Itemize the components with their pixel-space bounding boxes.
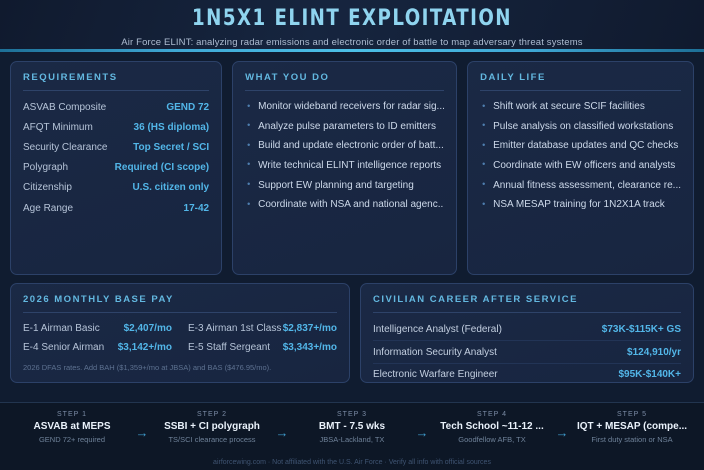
base-pay-title: 2026 MONTHLY BASE PAY — [23, 294, 337, 313]
daily-life-title: DAILY LIFE — [480, 72, 681, 91]
requirement-row: ASVAB Composite GEND 72 — [23, 97, 209, 117]
list-item: Write technical ELINT intelligence repor… — [245, 156, 444, 176]
pay-value: $3,343+/mo — [283, 342, 337, 353]
arrow-right-icon: → — [411, 411, 433, 440]
requirement-label: Security Clearance — [23, 142, 107, 153]
requirement-row: AFQT Minimum 36 (HS diploma) — [23, 117, 209, 137]
career-value: $73K-$115K+ GS — [602, 324, 681, 335]
timeline-step-5: STEP 5 IQT + MESAP (compe... First duty … — [573, 411, 691, 444]
timeline-step-2: STEP 2 SSBI + CI polygraph TS/SCI cleara… — [153, 411, 271, 444]
step-subtitle: TS/SCI clearance process — [153, 435, 271, 444]
pay-row: E-4 Senior Airman $3,142+/mo — [23, 338, 172, 357]
table-row: Electronic Warfare Engineer $95K-$140K+ — [373, 364, 681, 383]
step-title: Tech School ~11-12 ... — [433, 421, 551, 432]
page-title: 1N5X1 ELINT EXPLOITATION — [28, 6, 676, 32]
table-row: Intelligence Analyst (Federal) $73K-$115… — [373, 319, 681, 341]
timeline-step-4: STEP 4 Tech School ~11-12 ... Goodfellow… — [433, 411, 551, 444]
requirement-value: Required (CI scope) — [115, 162, 209, 173]
base-pay-grid: E-1 Airman Basic $2,407/mo E-3 Airman 1s… — [23, 319, 337, 357]
list-item: Coordinate with EW officers and analysts — [480, 156, 681, 176]
list-item: Pulse analysis on classified workstation… — [480, 117, 681, 137]
requirement-value: GEND 72 — [166, 102, 209, 113]
top-panel-row: REQUIREMENTS ASVAB Composite GEND 72 AFQ… — [0, 52, 704, 275]
requirement-label: ASVAB Composite — [23, 102, 106, 113]
what-you-do-panel: WHAT YOU DO Monitor wideband receivers f… — [232, 61, 457, 275]
step-number: STEP 2 — [153, 411, 271, 418]
timeline-step-3: STEP 3 BMT - 7.5 wks JBSA-Lackland, TX — [293, 411, 411, 444]
step-number: STEP 4 — [433, 411, 551, 418]
step-number: STEP 1 — [13, 411, 131, 418]
step-title: BMT - 7.5 wks — [293, 421, 411, 432]
pay-row: E-3 Airman 1st Class $2,837+/mo — [188, 319, 337, 338]
timeline-step-1: STEP 1 ASVAB at MEPS GEND 72+ required — [13, 411, 131, 444]
requirements-panel: REQUIREMENTS ASVAB Composite GEND 72 AFQ… — [10, 61, 222, 275]
step-title: SSBI + CI polygraph — [153, 421, 271, 432]
list-item: Support EW planning and targeting — [245, 175, 444, 195]
requirements-list: ASVAB Composite GEND 72 AFQT Minimum 36 … — [23, 97, 209, 218]
pay-row: E-5 Staff Sergeant $3,343+/mo — [188, 338, 337, 357]
requirement-row: Citizenship U.S. citizen only — [23, 178, 209, 198]
pay-value: $3,142+/mo — [118, 342, 172, 353]
requirement-value: U.S. citizen only — [132, 182, 209, 193]
arrow-right-icon: → — [551, 411, 573, 440]
requirement-label: Citizenship — [23, 182, 72, 193]
requirement-label: Polygraph — [23, 162, 68, 173]
list-item: Emitter database updates and QC checks — [480, 136, 681, 156]
requirement-row: Polygraph Required (CI scope) — [23, 158, 209, 178]
list-item: Annual fitness assessment, clearance re.… — [480, 175, 681, 195]
arrow-right-icon: → — [271, 411, 293, 440]
requirement-value: 17-42 — [184, 203, 210, 214]
list-item: NSA MESAP training for 1N2X1A track — [480, 195, 681, 215]
daily-life-panel: DAILY LIFE Shift work at secure SCIF fac… — [467, 61, 694, 275]
pay-label: E-4 Senior Airman — [23, 342, 104, 353]
pay-value: $2,837+/mo — [283, 323, 337, 334]
requirement-label: AFQT Minimum — [23, 122, 93, 133]
base-pay-panel: 2026 MONTHLY BASE PAY E-1 Airman Basic $… — [10, 283, 350, 383]
career-label: Information Security Analyst — [373, 347, 497, 358]
career-label: Intelligence Analyst (Federal) — [373, 324, 502, 335]
requirements-title: REQUIREMENTS — [23, 72, 209, 91]
pay-row: E-1 Airman Basic $2,407/mo — [23, 319, 172, 338]
pay-label: E-3 Airman 1st Class — [188, 323, 281, 334]
requirement-label: Age Range — [23, 203, 73, 214]
requirement-row: Security Clearance Top Secret / SCI — [23, 137, 209, 157]
list-item: Coordinate with NSA and national agenc..… — [245, 195, 444, 215]
step-number: STEP 3 — [293, 411, 411, 418]
requirement-value: Top Secret / SCI — [133, 142, 209, 153]
what-you-do-list: Monitor wideband receivers for radar sig… — [245, 97, 444, 215]
step-subtitle: GEND 72+ required — [13, 435, 131, 444]
step-title: ASVAB at MEPS — [13, 421, 131, 432]
career-label: Electronic Warfare Engineer — [373, 369, 498, 380]
step-subtitle: JBSA-Lackland, TX — [293, 435, 411, 444]
list-item: Monitor wideband receivers for radar sig… — [245, 97, 444, 117]
step-subtitle: Goodfellow AFB, TX — [433, 435, 551, 444]
header-accent-bar — [0, 49, 704, 52]
table-row: Information Security Analyst $124,910/yr — [373, 341, 681, 363]
step-number: STEP 5 — [573, 411, 691, 418]
list-item: Analyze pulse parameters to ID emitters — [245, 117, 444, 137]
daily-life-list: Shift work at secure SCIF facilities Pul… — [480, 97, 681, 215]
what-you-do-title: WHAT YOU DO — [245, 72, 444, 91]
footer-disclaimer: airforcewing.com · Not affiliated with t… — [0, 459, 704, 466]
list-item: Build and update electronic order of bat… — [245, 136, 444, 156]
pay-label: E-5 Staff Sergeant — [188, 342, 270, 353]
career-value: $124,910/yr — [627, 347, 681, 358]
arrow-right-icon: → — [131, 411, 153, 440]
timeline-steps: STEP 1 ASVAB at MEPS GEND 72+ required →… — [0, 403, 704, 444]
requirement-value: 36 (HS diploma) — [134, 122, 210, 133]
requirement-row: Age Range 17-42 — [23, 198, 209, 218]
civilian-career-panel: CIVILIAN CAREER AFTER SERVICE Intelligen… — [360, 283, 694, 383]
civilian-career-list: Intelligence Analyst (Federal) $73K-$115… — [373, 319, 681, 383]
page-subtitle: Air Force ELINT: analyzing radar emissio… — [0, 37, 704, 48]
page-header: 1N5X1 ELINT EXPLOITATION Air Force ELINT… — [0, 0, 704, 52]
base-pay-note: 2026 DFAS rates. Add BAH ($1,359+/mo at … — [23, 363, 337, 372]
list-item: Shift work at secure SCIF facilities — [480, 97, 681, 117]
pay-label: E-1 Airman Basic — [23, 323, 100, 334]
bottom-panel-row: 2026 MONTHLY BASE PAY E-1 Airman Basic $… — [0, 275, 704, 383]
career-value: $95K-$140K+ — [618, 369, 681, 380]
civilian-career-title: CIVILIAN CAREER AFTER SERVICE — [373, 294, 681, 313]
pay-value: $2,407/mo — [124, 323, 172, 334]
step-title: IQT + MESAP (compe... — [573, 421, 691, 432]
step-subtitle: First duty station or NSA — [573, 435, 691, 444]
